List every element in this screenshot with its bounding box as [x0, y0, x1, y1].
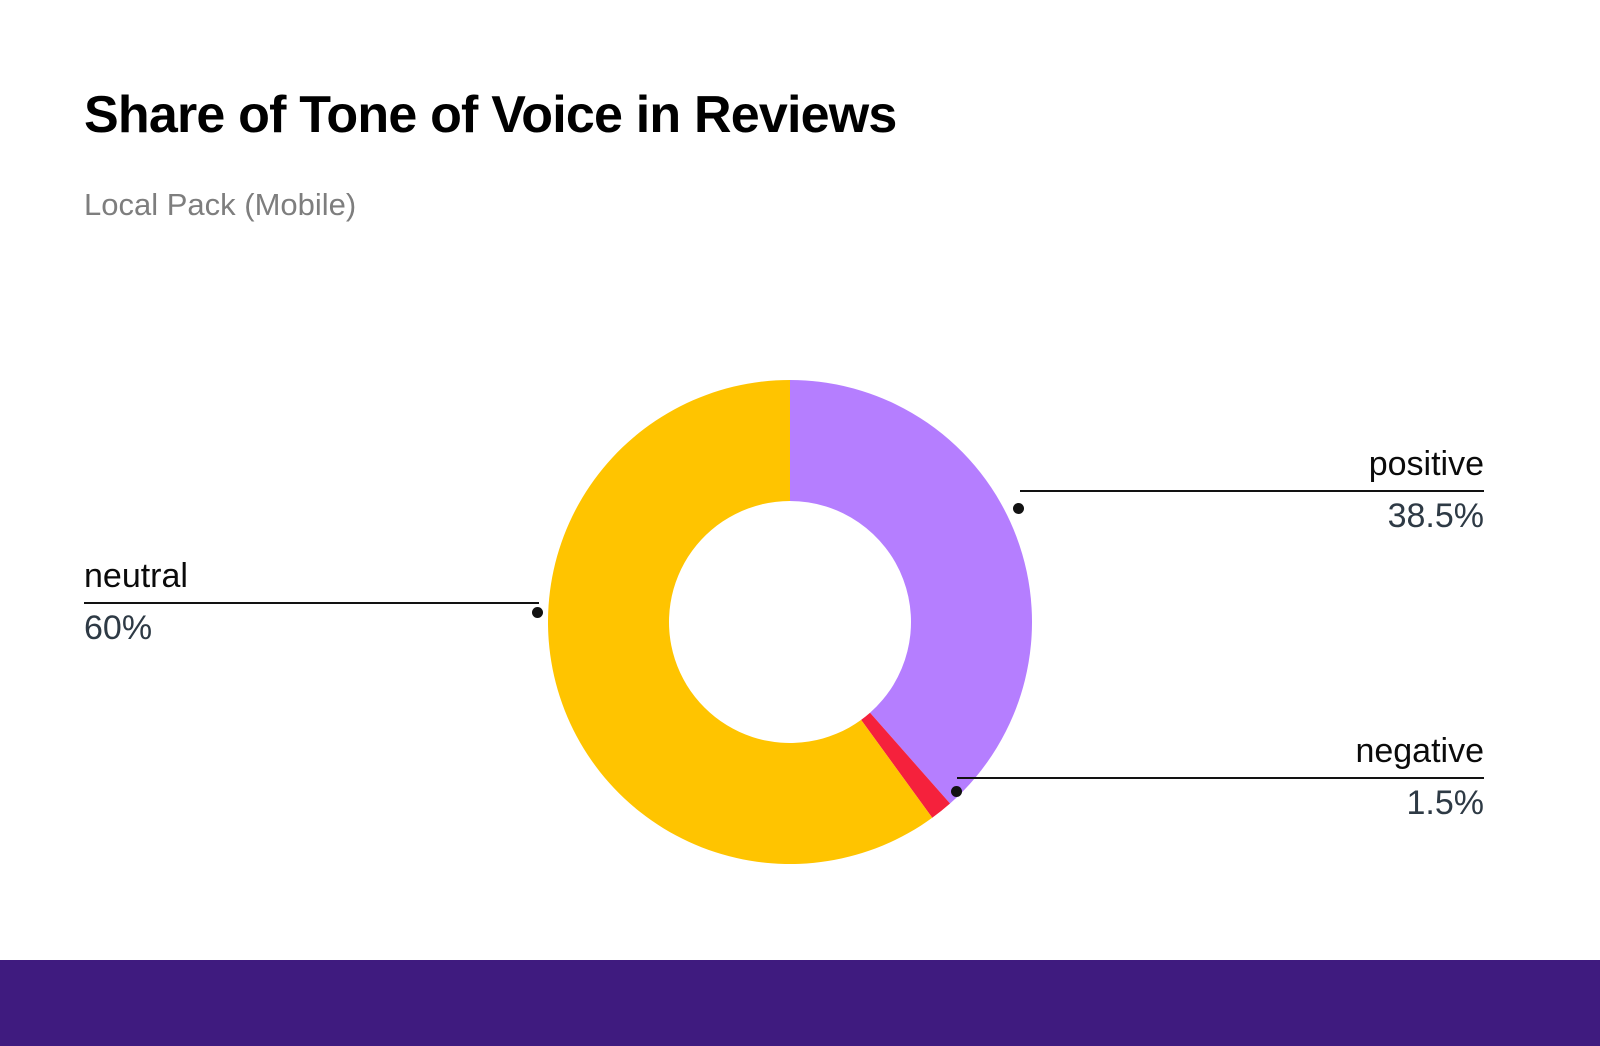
callout-positive-rule — [1020, 490, 1484, 492]
page-title: Share of Tone of Voice in Reviews — [84, 84, 897, 146]
chart-page: Share of Tone of Voice in Reviews Local … — [0, 0, 1600, 1046]
callout-neutral-rule — [84, 602, 539, 604]
callout-positive-value: 38.5% — [1020, 496, 1484, 536]
callout-negative-value: 1.5% — [957, 783, 1484, 823]
callout-neutral-label: neutral — [84, 556, 539, 596]
callout-negative-rule — [957, 777, 1484, 779]
callout-positive: positive 38.5% — [1020, 444, 1484, 536]
callout-negative: negative 1.5% — [957, 731, 1484, 823]
callout-negative-label: negative — [957, 731, 1484, 771]
footer-bar: semrush.com SEMRUSH — [0, 960, 1600, 1046]
page-subtitle: Local Pack (Mobile) — [84, 184, 356, 226]
callout-positive-label: positive — [1020, 444, 1484, 484]
callout-neutral: neutral 60% — [84, 556, 539, 648]
callout-neutral-value: 60% — [84, 608, 539, 648]
